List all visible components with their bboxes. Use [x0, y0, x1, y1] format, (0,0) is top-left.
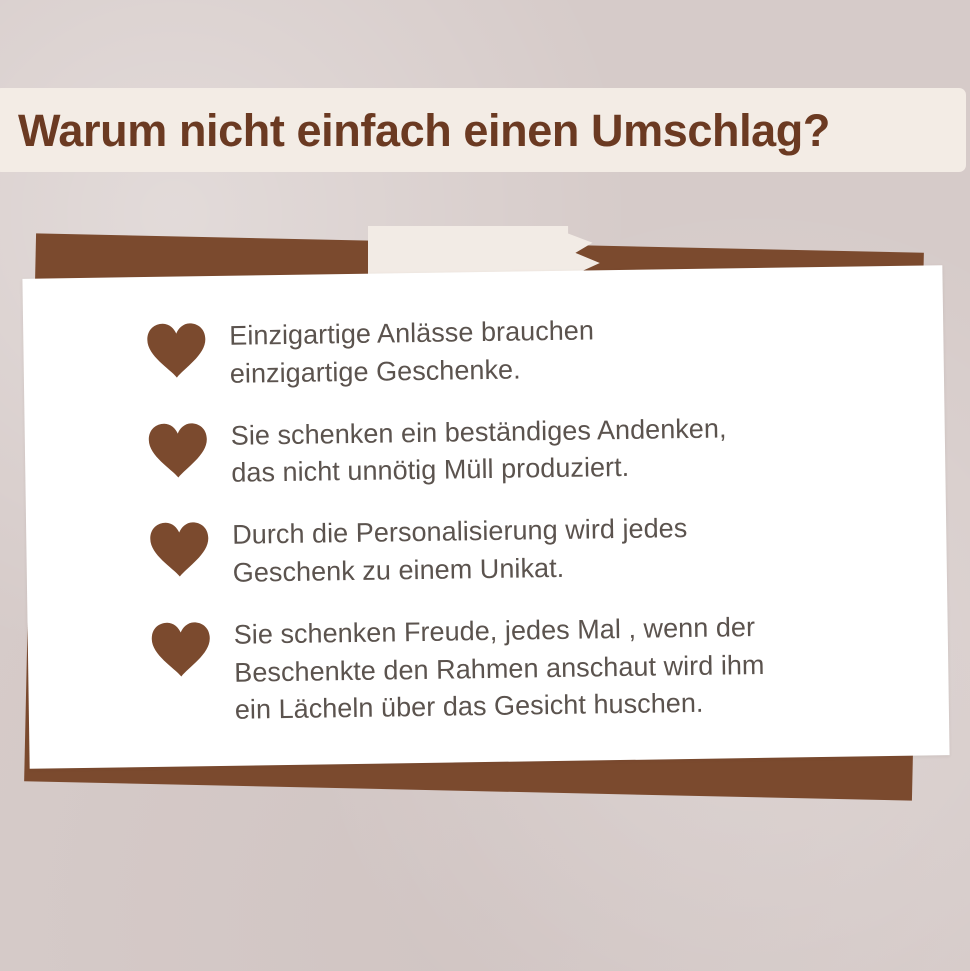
list-item-line: Geschenk zu einem Unikat.: [233, 548, 689, 593]
white-content-card: Einzigartige Anlässe brauchen einzigarti…: [22, 265, 949, 769]
list-item-text: Einzigartige Anlässe brauchen einzigarti…: [229, 310, 595, 393]
header-band: Warum nicht einfach einen Umschlag?: [0, 88, 966, 172]
page-title: Warum nicht einfach einen Umschlag?: [0, 108, 830, 153]
poster-canvas: Warum nicht einfach einen Umschlag? Einz…: [0, 0, 970, 971]
benefits-list: Einzigartige Anlässe brauchen einzigarti…: [22, 265, 949, 769]
heart-icon: [148, 521, 211, 578]
list-item: Einzigartige Anlässe brauchen einzigarti…: [145, 306, 904, 395]
list-item: Durch die Personalisierung wird jedes Ge…: [148, 505, 907, 594]
list-item-text: Sie schenken Freude, jedes Mal , wenn de…: [233, 607, 765, 730]
list-item-line: ein Lächeln über das Gesicht huschen.: [235, 684, 766, 730]
list-item-line: einzigartige Geschenke.: [230, 350, 595, 393]
list-item-line: Einzigartige Anlässe brauchen: [229, 312, 594, 355]
list-item-line: Durch die Personalisierung wird jedes: [232, 510, 688, 555]
heart-icon: [150, 621, 213, 678]
list-item-text: Durch die Personalisierung wird jedes Ge…: [232, 508, 688, 592]
list-item-text: Sie schenken ein beständiges Andenken, d…: [230, 408, 727, 493]
list-item: Sie schenken Freude, jedes Mal , wenn de…: [149, 605, 909, 732]
list-item-line: Sie schenken ein beständiges Andenken,: [230, 410, 726, 455]
list-item-line: das nicht unnötig Müll produziert.: [231, 448, 727, 493]
heart-icon: [145, 322, 208, 379]
heart-icon: [147, 422, 210, 479]
list-item: Sie schenken ein beständiges Andenken, d…: [146, 405, 905, 494]
